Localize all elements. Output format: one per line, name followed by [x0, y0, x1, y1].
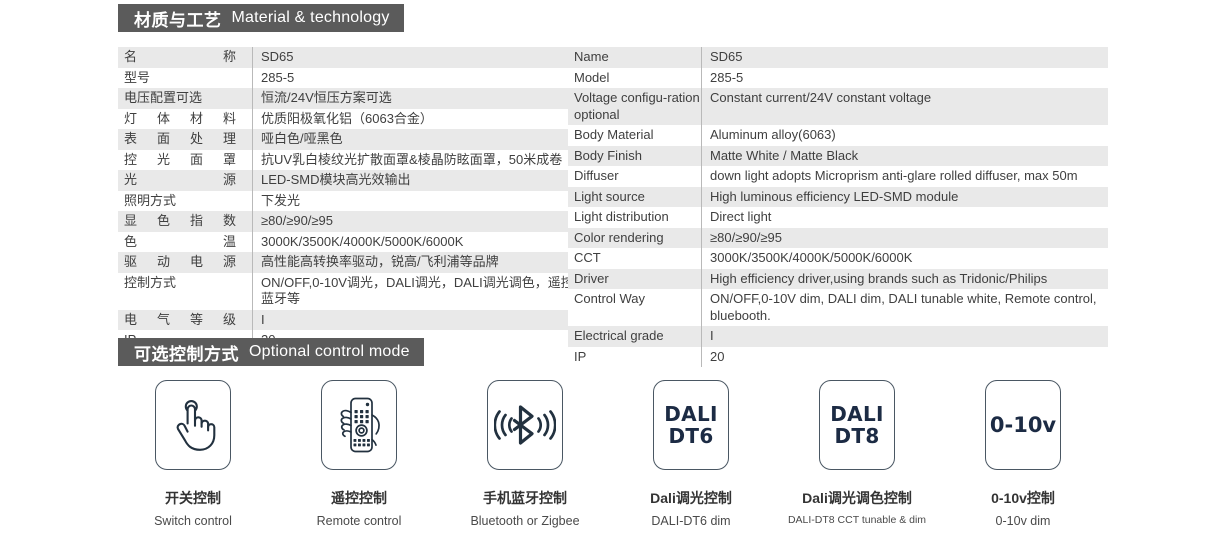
table-row: Control Way ON/OFF,0-10V dim, DALI dim, … — [568, 289, 1108, 326]
dali-dt8-icon-box: DALI DT8 — [819, 380, 895, 470]
table-row: 显 色 指 数 ≥80/≥90/≥95 — [118, 211, 589, 232]
row-value: I — [702, 326, 1109, 347]
row-value: Aluminum alloy(6063) — [702, 125, 1109, 146]
row-value: 恒流/24V恒压方案可选 — [253, 88, 590, 109]
control-mode-label-en: Switch control — [154, 514, 232, 528]
row-value: ≥80/≥90/≥95 — [702, 228, 1109, 249]
row-label: Name — [568, 47, 702, 68]
control-mode-label-cn: Dali调光调色控制 — [802, 488, 912, 508]
row-label: Voltage configu-ration optional — [568, 88, 702, 125]
row-label: Color rendering — [568, 228, 702, 249]
dali-dt8-line1: DALI — [830, 403, 883, 425]
row-label: Control Way — [568, 289, 702, 326]
control-mode-switch[interactable]: 开关控制 Switch control — [118, 380, 268, 528]
tap-hand-icon — [170, 398, 216, 452]
row-label: 驱 动 电 源 — [118, 252, 253, 273]
row-value: 285-5 — [253, 68, 590, 89]
row-value: Direct light — [702, 207, 1109, 228]
row-value: 285-5 — [702, 68, 1109, 89]
control-mode-zero-to-ten-volt[interactable]: 0-10v 0-10v控制 0-10v dim — [948, 380, 1098, 528]
row-value: 下发光 — [253, 191, 590, 212]
row-label: 控 光 面 罩 — [118, 150, 253, 171]
row-label: 色 温 — [118, 232, 253, 253]
dali-dt6-line1: DALI — [664, 403, 717, 425]
row-label: IP — [568, 347, 702, 368]
table-row: Voltage configu-ration optional Constant… — [568, 88, 1108, 125]
control-mode-label-en: Bluetooth or Zigbee — [470, 514, 579, 528]
row-value: 3000K/3500K/4000K/5000K/6000K — [702, 248, 1109, 269]
table-row: 名 称 SD65 — [118, 47, 589, 68]
control-mode-label-en: DALI-DT6 dim — [651, 514, 730, 528]
section-header-material-cn: 材质与工艺 — [134, 6, 222, 31]
row-value: ON/OFF,0-10V dim, DALI dim, DALI tunable… — [702, 289, 1109, 326]
table-row: Light distribution Direct light — [568, 207, 1108, 228]
row-label: 光 源 — [118, 170, 253, 191]
dali-dt8-line2: DT8 — [830, 425, 883, 447]
row-label: Body Finish — [568, 146, 702, 167]
spec-table-chinese: 名 称 SD65 型号 285-5 电压配置可选 恒流/24V恒压方案可选 灯 … — [118, 47, 589, 351]
section-header-control-en: Optional control mode — [249, 343, 410, 361]
row-value: Constant current/24V constant voltage — [702, 88, 1109, 125]
row-label: 显 色 指 数 — [118, 211, 253, 232]
row-label: Electrical grade — [568, 326, 702, 347]
table-row: 驱 动 电 源 高性能高转换率驱动，锐高/飞利浦等品牌 — [118, 252, 589, 273]
dali-dt6-icon: DALI DT6 — [664, 403, 717, 447]
row-value: down light adopts Microprism anti-glare … — [702, 166, 1109, 187]
zero-to-ten-volt-icon: 0-10v — [990, 413, 1056, 437]
bluetooth-icon-box — [487, 380, 563, 470]
row-label: 电 气 等 级 — [118, 310, 253, 331]
row-value: ON/OFF,0-10V调光，DALI调光，DALI调光调色，遥控，蓝牙等 — [253, 273, 590, 310]
table-row: 光 源 LED-SMD模块高光效输出 — [118, 170, 589, 191]
row-label: Driver — [568, 269, 702, 290]
table-row: 控 光 面 罩 抗UV乳白棱纹光扩散面罩&棱晶防眩面罩，50米成卷 — [118, 150, 589, 171]
section-header-control: 可选控制方式 Optional control mode — [118, 338, 424, 366]
dali-dt6-line2: DT6 — [664, 425, 717, 447]
dali-dt6-icon-box: DALI DT6 — [653, 380, 729, 470]
row-value: 20 — [702, 347, 1109, 368]
section-header-control-cn: 可选控制方式 — [134, 340, 239, 365]
tap-hand-icon-box — [155, 380, 231, 470]
row-value: 优质阳极氧化铝（6063合金） — [253, 109, 590, 130]
row-label: 照明方式 — [118, 191, 253, 212]
row-value: I — [253, 310, 590, 331]
table-row: Diffuser down light adopts Microprism an… — [568, 166, 1108, 187]
row-value: Matte White / Matte Black — [702, 146, 1109, 167]
control-mode-label-en: DALI-DT8 CCT tunable & dim — [788, 514, 926, 526]
row-label: 型号 — [118, 68, 253, 89]
control-mode-dali-dt6[interactable]: DALI DT6 Dali调光控制 DALI-DT6 dim — [616, 380, 766, 528]
row-label: Light distribution — [568, 207, 702, 228]
row-value: 哑白色/哑黑色 — [253, 129, 590, 150]
row-label: Model — [568, 68, 702, 89]
table-row: Light source High luminous efficiency LE… — [568, 187, 1108, 208]
control-mode-label-cn: 手机蓝牙控制 — [483, 488, 567, 508]
control-mode-label-en: 0-10v dim — [996, 514, 1051, 528]
table-row: Driver High efficiency driver,using bran… — [568, 269, 1108, 290]
table-row: 表 面 处 理 哑白色/哑黑色 — [118, 129, 589, 150]
row-value: High efficiency driver,using brands such… — [702, 269, 1109, 290]
row-value: ≥80/≥90/≥95 — [253, 211, 590, 232]
control-mode-list: 开关控制 Switch control — [118, 380, 1098, 528]
control-mode-label-en: Remote control — [317, 514, 402, 528]
spec-table-english: Name SD65 Model 285-5 Voltage configu-ra… — [568, 47, 1108, 367]
table-row: 色 温 3000K/3500K/4000K/5000K/6000K — [118, 232, 589, 253]
bluetooth-icon — [494, 402, 556, 448]
table-row: 控制方式 ON/OFF,0-10V调光，DALI调光，DALI调光调色，遥控，蓝… — [118, 273, 589, 310]
remote-control-icon-box — [321, 380, 397, 470]
row-label: Diffuser — [568, 166, 702, 187]
table-row: 电 气 等 级 I — [118, 310, 589, 331]
row-label: 控制方式 — [118, 273, 253, 310]
row-label: 表 面 处 理 — [118, 129, 253, 150]
control-mode-label-cn: 遥控控制 — [331, 488, 387, 508]
row-label: 灯 体 材 料 — [118, 109, 253, 130]
row-value: 抗UV乳白棱纹光扩散面罩&棱晶防眩面罩，50米成卷 — [253, 150, 590, 171]
table-row: Electrical grade I — [568, 326, 1108, 347]
remote-control-icon — [332, 395, 386, 455]
control-mode-remote[interactable]: 遥控控制 Remote control — [284, 380, 434, 528]
row-label: CCT — [568, 248, 702, 269]
table-row: 电压配置可选 恒流/24V恒压方案可选 — [118, 88, 589, 109]
control-mode-label-cn: 开关控制 — [165, 488, 221, 508]
table-row: Body Finish Matte White / Matte Black — [568, 146, 1108, 167]
row-label: 名 称 — [118, 47, 253, 68]
dali-dt8-icon: DALI DT8 — [830, 403, 883, 447]
row-label: Body Material — [568, 125, 702, 146]
section-header-material: 材质与工艺 Material & technology — [118, 4, 404, 32]
control-mode-bluetooth[interactable]: 手机蓝牙控制 Bluetooth or Zigbee — [450, 380, 600, 528]
control-mode-label-cn: 0-10v控制 — [991, 488, 1055, 508]
control-mode-label-cn: Dali调光控制 — [650, 488, 732, 508]
row-value: SD65 — [253, 47, 590, 68]
table-row: 灯 体 材 料 优质阳极氧化铝（6063合金） — [118, 109, 589, 130]
zero-to-ten-volt-icon-box: 0-10v — [985, 380, 1061, 470]
section-header-material-en: Material & technology — [232, 9, 390, 27]
table-row: Model 285-5 — [568, 68, 1108, 89]
row-value: High luminous efficiency LED-SMD module — [702, 187, 1109, 208]
table-row: IP 20 — [568, 347, 1108, 368]
table-row: Color rendering ≥80/≥90/≥95 — [568, 228, 1108, 249]
table-row: 型号 285-5 — [118, 68, 589, 89]
table-row: Body Material Aluminum alloy(6063) — [568, 125, 1108, 146]
row-value: 高性能高转换率驱动，锐高/飞利浦等品牌 — [253, 252, 590, 273]
control-mode-dali-dt8[interactable]: DALI DT8 Dali调光调色控制 DALI-DT8 CCT tunable… — [782, 380, 932, 528]
row-label: 电压配置可选 — [118, 88, 253, 109]
row-value: SD65 — [702, 47, 1109, 68]
row-value: LED-SMD模块高光效输出 — [253, 170, 590, 191]
row-label: Light source — [568, 187, 702, 208]
table-row: Name SD65 — [568, 47, 1108, 68]
row-value: 3000K/3500K/4000K/5000K/6000K — [253, 232, 590, 253]
table-row: 照明方式 下发光 — [118, 191, 589, 212]
table-row: CCT 3000K/3500K/4000K/5000K/6000K — [568, 248, 1108, 269]
